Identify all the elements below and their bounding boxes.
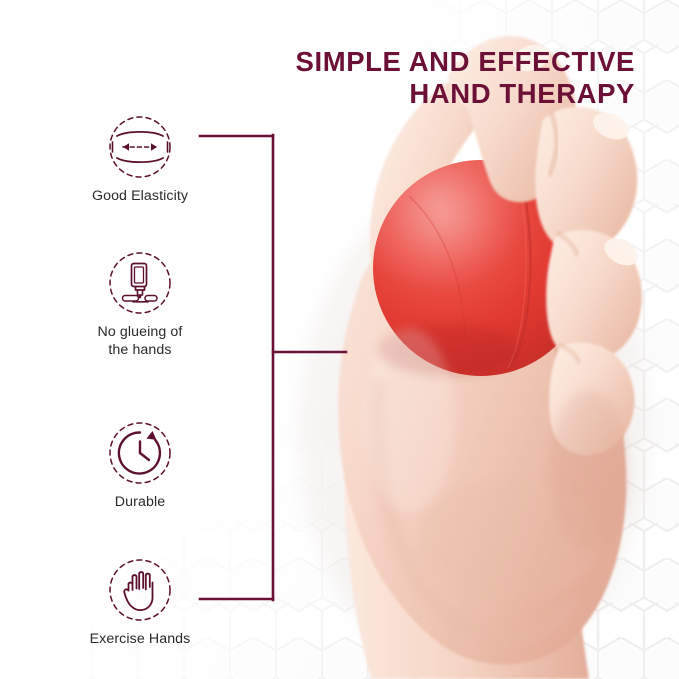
feature-label: No glueing of the hands xyxy=(45,323,235,359)
feature-label: Good Elasticity xyxy=(45,187,235,205)
feature-label: Exercise Hands xyxy=(45,630,235,648)
open-hand-icon xyxy=(107,557,173,623)
feature-durable: Durable xyxy=(45,420,235,511)
feature-no-glueing: No glueing of the hands xyxy=(45,250,235,359)
elasticity-stretch-icon xyxy=(107,114,173,180)
title-line-2: Hand therapy xyxy=(296,78,635,110)
feature-exercise-hands: Exercise Hands xyxy=(45,557,235,648)
feature-label: Durable xyxy=(45,493,235,511)
glue-tube-icon xyxy=(107,250,173,316)
title-line-1: Simple and effective xyxy=(296,46,635,78)
infographic-canvas: Simple and effective Hand therapy Good E… xyxy=(0,0,679,679)
clock-arrow-icon xyxy=(107,420,173,486)
page-title: Simple and effective Hand therapy xyxy=(296,46,635,111)
feature-good-elasticity: Good Elasticity xyxy=(45,114,235,205)
